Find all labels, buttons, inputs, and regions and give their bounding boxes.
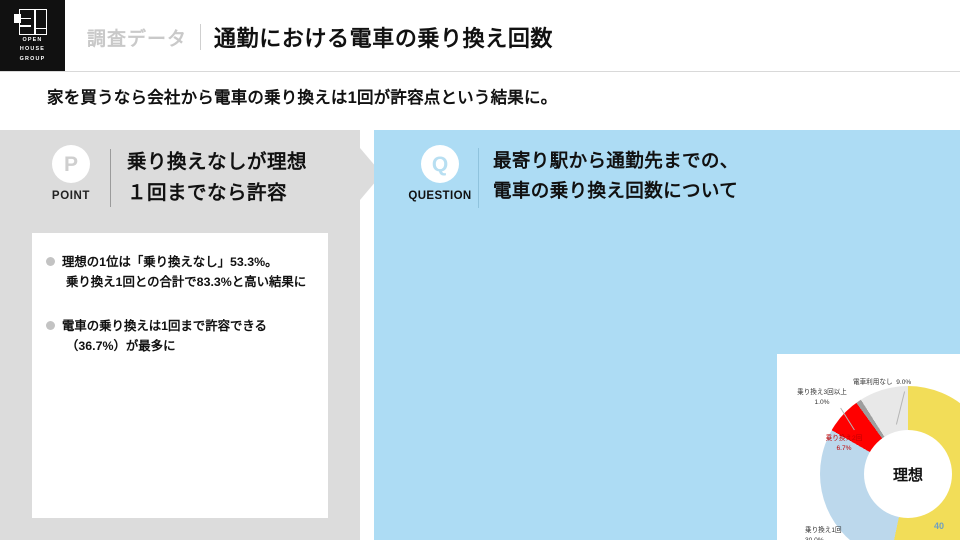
bullet-2-line-1: 電車の乗り換えは1回まで許容できる <box>62 319 267 333</box>
question-vertical-divider <box>478 148 479 208</box>
chart-card: 通勤における電車の乗り換え回数 理想 乗り換えなし （0回） 53.3% 乗り換… <box>777 354 960 540</box>
point-headline-1: 乗り換えなしが理想 <box>127 147 307 178</box>
point-detail-card: 理想の1位は「乗り換えなし」53.3%。 乗り換え1回との合計で83.3%と高い… <box>32 233 328 518</box>
slice-label-no-train-use: 電車利用なし 9.0% <box>853 378 911 388</box>
question-panel: Q QUESTION 最寄り駅から通勤先までの、 電車の乗り換え回数について 通… <box>374 130 960 540</box>
donut-chart-ideal: 理想 乗り換えなし （0回） 53.3% 乗り換え1回 30.0% 乗り換え2回… <box>777 386 960 540</box>
header-divider <box>200 24 201 50</box>
page-number: 40 <box>934 521 944 531</box>
lead-statement: 家を買うなら会社から電車の乗り換えは1回が許容点という結果に。 <box>47 84 557 108</box>
chart-title: 通勤における電車の乗り換え回数 <box>777 365 960 379</box>
question-badge-icon: Q <box>421 145 459 183</box>
logo-line-2: HOUSE <box>20 46 45 53</box>
header-bar: 調査データ 通勤における電車の乗り換え回数 <box>65 0 960 72</box>
question-header: Q QUESTION 最寄り駅から通勤先までの、 電車の乗り換え回数について <box>404 145 739 208</box>
page-title: 通勤における電車の乗り換え回数 <box>214 21 553 53</box>
list-item: 理想の1位は「乗り換えなし」53.3%。 乗り換え1回との合計で83.3%と高い… <box>46 252 312 292</box>
point-panel: P POINT 乗り換えなしが理想 １回までなら許容 理想の1位は「乗り換えなし… <box>0 130 360 540</box>
bullet-dot-icon <box>46 321 55 330</box>
point-vertical-divider <box>110 149 111 207</box>
point-badge-label: POINT <box>52 190 90 202</box>
slice-label-three-plus-transfers: 乗り換え3回以上 1.0% <box>779 388 865 407</box>
bullet-1-line-1: 理想の1位は「乗り換えなし」53.3%。 <box>62 255 278 269</box>
bullet-dot-icon <box>46 257 55 266</box>
bullet-2-line-2: （36.7%）が最多に <box>62 336 267 356</box>
point-header: P POINT 乗り換えなしが理想 １回までなら許容 <box>36 145 307 209</box>
point-headline-2: １回までなら許容 <box>127 178 307 209</box>
question-headline-1: 最寄り駅から通勤先までの、 <box>493 146 739 176</box>
header-kicker: 調査データ <box>87 24 187 51</box>
header-rule <box>0 71 960 72</box>
slide-root: OPEN HOUSE GROUP 調査データ 通勤における電車の乗り換え回数 家… <box>0 0 960 540</box>
question-badge-label: QUESTION <box>408 190 471 202</box>
building-icon <box>19 9 47 35</box>
slice-label-two-transfers: 乗り換え2回 6.7% <box>814 434 874 453</box>
logo-line-3: GROUP <box>20 56 46 63</box>
question-headline-2: 電車の乗り換え回数について <box>493 176 739 206</box>
list-item: 電車の乗り換えは1回まで許容できる （36.7%）が最多に <box>46 316 312 356</box>
brand-logo: OPEN HOUSE GROUP <box>0 0 65 72</box>
slice-label-one-transfer: 乗り換え1回 30.0% <box>805 526 842 540</box>
point-badge-icon: P <box>52 145 90 183</box>
bullet-1-line-2: 乗り換え1回との合計で83.3%と高い結果に <box>62 272 306 292</box>
donut-center-label: 理想 <box>893 464 923 485</box>
logo-line-1: OPEN <box>22 37 42 44</box>
donut-hole: 理想 <box>864 430 952 518</box>
